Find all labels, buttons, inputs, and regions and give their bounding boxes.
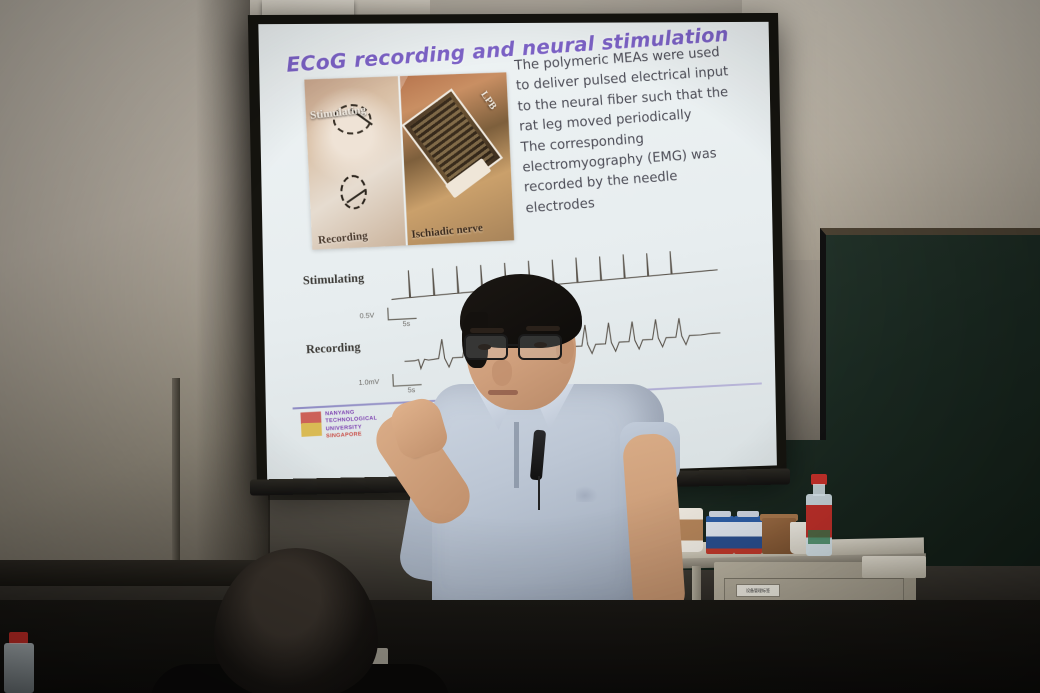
right-wall [742, 0, 1040, 260]
cabinet-top-device [862, 556, 926, 578]
shirt-logo-icon [576, 486, 598, 502]
water-bottle-table [806, 474, 832, 556]
trace-label-recording: Recording [306, 339, 361, 357]
photo-label-nerve: Ischiadic nerve [411, 222, 483, 241]
bottle-body [806, 494, 832, 556]
foreground-bottle-body [4, 643, 34, 693]
blackboard [820, 228, 1040, 566]
microphone-wire [538, 476, 540, 510]
door-frame [172, 378, 180, 578]
ntu-logo: NANYANG TECHNOLOGICAL UNIVERSITY SINGAPO… [300, 408, 378, 442]
presenter-nose [492, 360, 512, 386]
slide-photo-pair: Stimulating Recording LPB Ischiadic nerv… [304, 72, 514, 249]
milk-carton-1-cap [709, 511, 731, 517]
eyebrow-left [470, 328, 504, 333]
milk-carton-1 [706, 516, 734, 554]
eye-right [534, 342, 547, 348]
photo-stimulating: Stimulating Recording [304, 76, 406, 250]
water-bottle-foreground [4, 632, 34, 693]
photo-label-recording: Recording [318, 230, 369, 247]
shirt-placket [514, 422, 519, 488]
eyebrow-right [526, 326, 560, 331]
scale-y-stimulating: 0.5V [360, 312, 375, 320]
ntu-logo-text: NANYANG TECHNOLOGICAL UNIVERSITY SINGAPO… [325, 408, 378, 440]
slide-body-text: The polymeric MEAs were used to deliver … [514, 40, 777, 219]
photo-nerve: LPB Ischiadic nerve [400, 72, 514, 245]
photo-label-device: LPB [478, 89, 498, 111]
glasses-bridge [508, 344, 520, 346]
presenter-mouth [488, 390, 518, 395]
floor [0, 600, 1040, 693]
eye-left [478, 344, 491, 350]
ntu-line-4: SINGAPORE [326, 430, 378, 440]
cabinet-label: 设备管理标签 [736, 584, 780, 597]
lecture-photo-scene: ECoG recording and neural stimulation St… [0, 0, 1040, 693]
milk-carton-2 [734, 516, 762, 554]
ntu-crest-icon [300, 411, 322, 436]
scale-y-recording: 1.0mV [359, 379, 380, 387]
trace-label-stimulating: Stimulating [303, 270, 365, 288]
milk-carton-2-cap [737, 511, 759, 517]
bottle-label-graphic [808, 530, 830, 544]
